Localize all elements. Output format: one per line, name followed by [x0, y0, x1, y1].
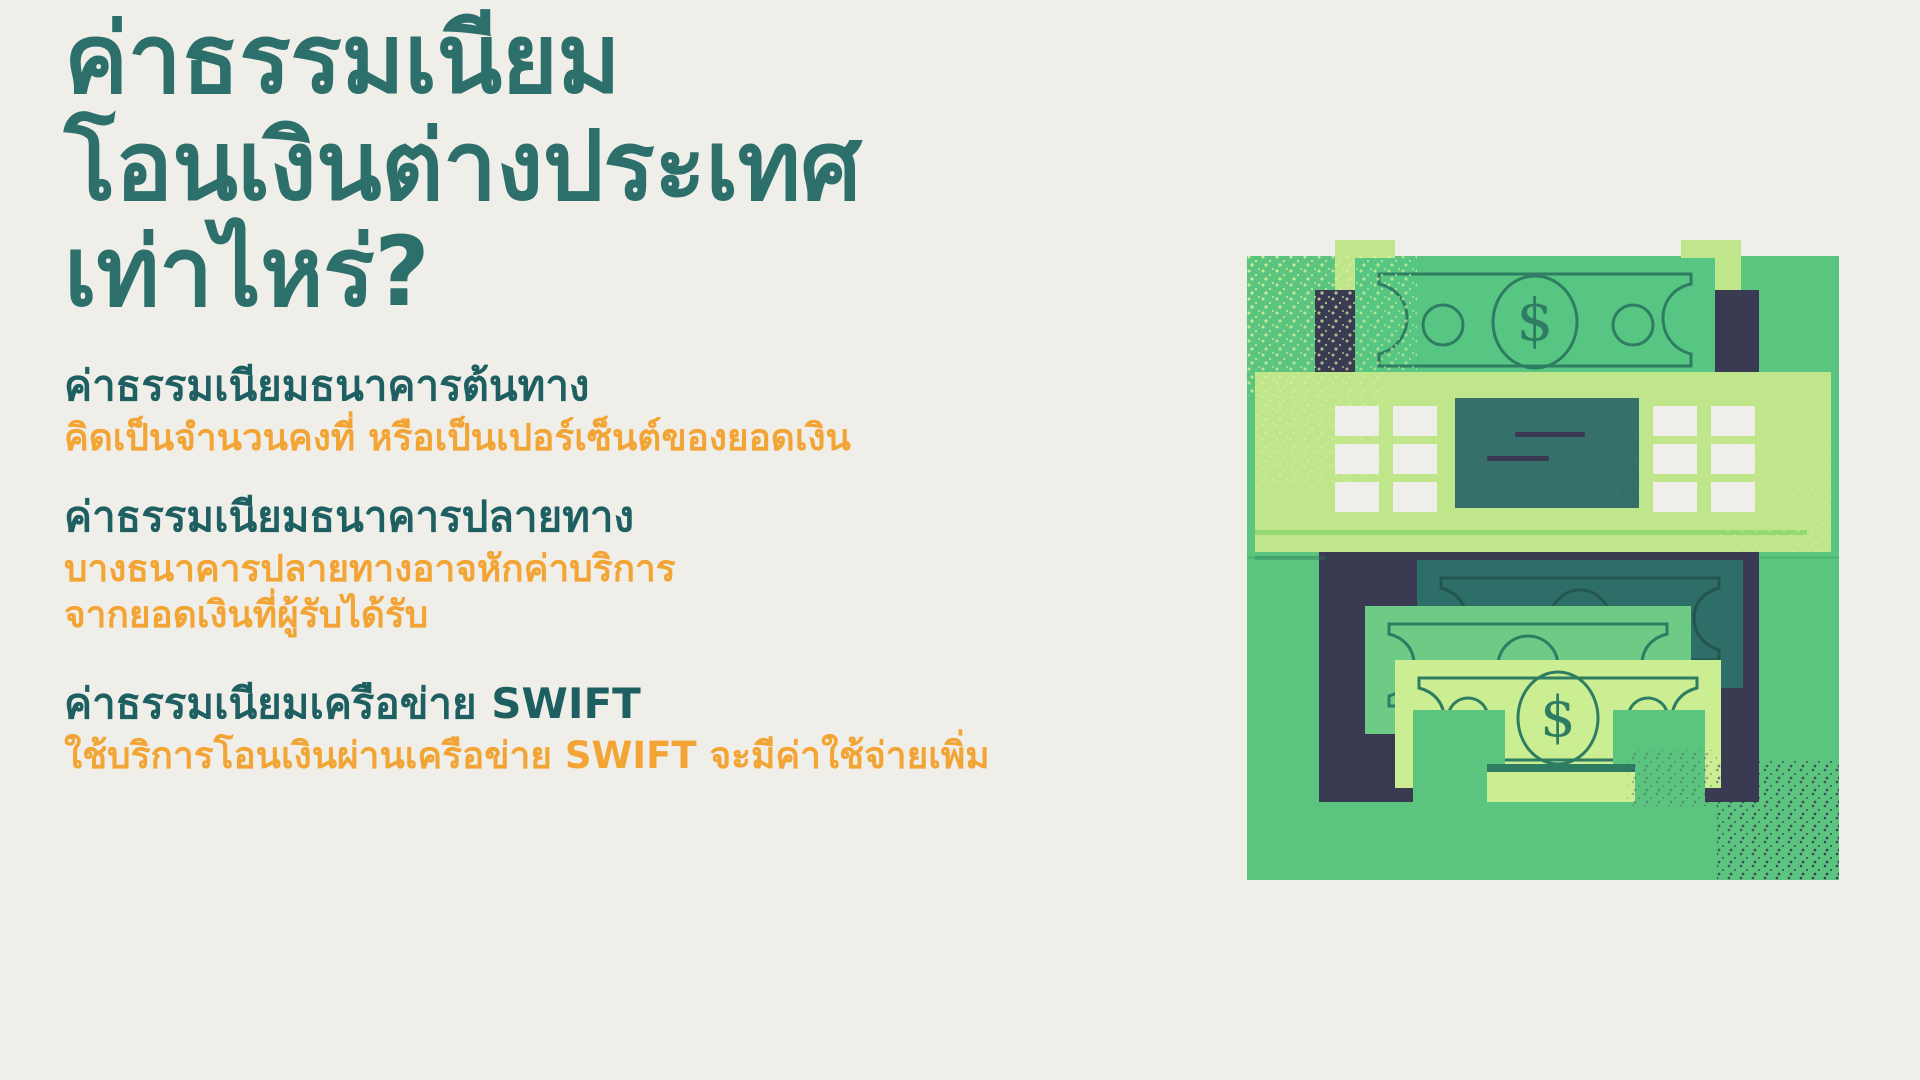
fee-desc-line: คิดเป็นจำนวนคงที่ หรือเป็นเปอร์เซ็นต์ของ… [64, 415, 1184, 461]
fee-item-description: ใช้บริการโอนเงินผ่านเครือข่าย SWIFT จะมี… [64, 733, 1184, 779]
machine-screen [1455, 398, 1639, 508]
fee-item-title: ค่าธรรมเนียมเครือข่าย SWIFT [64, 678, 1184, 731]
fee-desc-line: ใช้บริการโอนเงินผ่านเครือข่าย SWIFT จะมี… [64, 733, 1184, 779]
grain-texture-bottom-right [1717, 760, 1839, 880]
headline-line-1: ค่าธรรมเนียม [64, 6, 1184, 113]
dollar-sign-front: $ [1540, 685, 1576, 750]
fee-item-description: คิดเป็นจำนวนคงที่ หรือเป็นเปอร์เซ็นต์ของ… [64, 415, 1184, 461]
fee-list: ค่าธรรมเนียมธนาคารต้นทาง คิดเป็นจำนวนคงท… [64, 360, 1184, 780]
page-title: ค่าธรรมเนียม โอนเงินต่างประเทศ เท่าไหร่? [64, 6, 1184, 326]
fee-item-receiving-bank: ค่าธรรมเนียมธนาคารปลายทาง บางธนาคารปลายท… [64, 491, 1184, 638]
headline-line-2: โอนเงินต่างประเทศ [64, 113, 1184, 220]
fee-item-title: ค่าธรรมเนียมธนาคารปลายทาง [64, 491, 1184, 544]
fee-desc-line: บางธนาคารปลายทางอาจหักค่าบริการ [64, 546, 1184, 592]
fee-desc-line: จากยอดเงินที่ผู้รับได้รับ [64, 592, 1184, 638]
money-counting-machine-illustration: $ [1247, 240, 1839, 880]
fee-item-title: ค่าธรรมเนียมธนาคารต้นทาง [64, 360, 1184, 413]
dollar-sign-top: $ [1517, 286, 1554, 354]
content-column: ค่าธรรมเนียม โอนเงินต่างประเทศ เท่าไหร่?… [64, 6, 1184, 779]
fee-item-description: บางธนาคารปลายทางอาจหักค่าบริการ จากยอดเง… [64, 546, 1184, 639]
fee-item-sending-bank: ค่าธรรมเนียมธนาคารต้นทาง คิดเป็นจำนวนคงท… [64, 360, 1184, 461]
slide-canvas: ค่าธรรมเนียม โอนเงินต่างประเทศ เท่าไหร่?… [0, 0, 1920, 1080]
fee-item-swift-network: ค่าธรรมเนียมเครือข่าย SWIFT ใช้บริการโอน… [64, 678, 1184, 779]
headline-line-3: เท่าไหร่? [64, 219, 1184, 326]
grain-texture-tray [1627, 750, 1717, 806]
